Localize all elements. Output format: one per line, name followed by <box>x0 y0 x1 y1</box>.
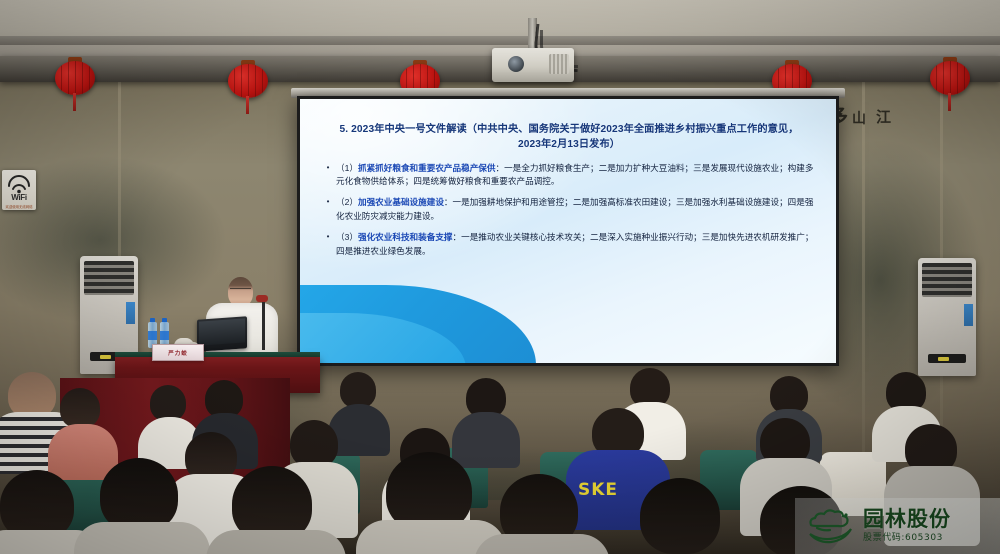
ac-vent <box>922 263 972 297</box>
bullet-marker-icon: • <box>324 162 332 190</box>
audience-head <box>290 420 338 468</box>
presenter-glasses <box>230 288 251 293</box>
shirt-text: SKE <box>578 480 618 500</box>
audience-head <box>60 388 100 428</box>
calligraphy-char-3: 江 <box>876 106 891 127</box>
bullet-text: （1）抓紧抓好粮食和重要农产品稳产保供：一是全力抓好粮食生产；二是加力扩种大豆油… <box>336 162 814 190</box>
ceiling-rail <box>0 36 1000 45</box>
bullet-text: （3）强化农业科技和装备支撑：一是推动农业关键核心技术攻关；二是深入实施种业振兴… <box>336 231 814 259</box>
bullet-marker-icon: • <box>324 231 332 259</box>
wifi-sign: WiFi 欢迎使用无线网络 <box>2 170 36 210</box>
projector-vent <box>549 54 569 74</box>
audience-head <box>340 372 376 408</box>
projector-lens <box>508 56 524 72</box>
bullet-text: （2）加强农业基础设施建设：一是加强耕地保护和用途管控；二是加强高标准农田建设；… <box>336 196 814 224</box>
audience-head <box>150 385 186 421</box>
conference-room-photo: 多 山 江 WiFi 欢迎使用无线网络 <box>0 0 1000 554</box>
audience-body <box>74 522 210 554</box>
stock-code: 股票代码:605303 <box>863 534 951 543</box>
red-lantern <box>55 55 95 113</box>
mural-panel-divider <box>862 80 865 480</box>
bullet-number: （3） <box>336 232 358 242</box>
wifi-label: WiFi <box>2 193 36 202</box>
ac-display-panel <box>928 354 966 363</box>
slide-bullet-item: • （3）强化农业科技和装备支撑：一是推动农业关键核心技术攻关；二是深入实施种业… <box>324 231 814 259</box>
nameplate-text: 严力蛟 <box>168 349 188 357</box>
red-lantern <box>228 58 268 116</box>
bullet-lead: 强化农业科技和装备支撑 <box>358 232 453 242</box>
microphone-head <box>256 295 268 302</box>
presenter-nameplate: 严力蛟 <box>152 344 204 361</box>
company-name: 园林股份 <box>863 509 951 530</box>
audience-body <box>474 534 610 554</box>
laptop-screen <box>199 318 245 345</box>
slide-title: 5. 2023年中央一号文件解读（中共中央、国务院关于做好2023年全面推进乡村… <box>324 123 814 153</box>
watermark-text-block: 园林股份 股票代码:605303 <box>863 509 951 543</box>
wifi-icon <box>2 172 36 194</box>
bullet-lead: 加强农业基础设施建设 <box>358 197 444 207</box>
bullet-number: （1） <box>336 163 358 173</box>
slide-bullet-item: • （2）加强农业基础设施建设：一是加强耕地保护和用途管控；二是加强高标准农田建… <box>324 196 814 224</box>
wifi-sublabel: 欢迎使用无线网络 <box>2 204 36 209</box>
ac-vent <box>84 261 134 295</box>
air-conditioner-right <box>918 258 976 376</box>
microphone-stand <box>262 300 265 350</box>
audience-body <box>452 412 520 468</box>
bullet-marker-icon: • <box>324 196 332 224</box>
red-lantern <box>930 55 970 113</box>
bullet-number: （2） <box>336 197 358 207</box>
company-watermark: 园林股份 股票代码:605303 <box>795 498 1000 554</box>
slide-bullet-list: • （1）抓紧抓好粮食和重要农产品稳产保供：一是全力抓好粮食生产；二是加力扩种大… <box>324 162 814 260</box>
projection-screen: 5. 2023年中央一号文件解读（中共中央、国务院关于做好2023年全面推进乡村… <box>297 96 839 366</box>
bullet-lead: 抓紧抓好粮食和重要农产品稳产保供 <box>358 163 496 173</box>
slide-bullet-item: • （1）抓紧抓好粮食和重要农产品稳产保供：一是全力抓好粮食生产；二是加力扩种大… <box>324 162 814 190</box>
slide-content: 5. 2023年中央一号文件解读（中共中央、国务院关于做好2023年全面推进乡村… <box>300 99 836 363</box>
audience-head <box>100 458 178 532</box>
slide-surface: 5. 2023年中央一号文件解读（中共中央、国务院关于做好2023年全面推进乡村… <box>300 99 836 363</box>
presenter-laptop <box>197 316 247 351</box>
ceiling-projector <box>492 48 574 82</box>
ac-sticker <box>964 304 973 326</box>
ac-sticker <box>126 302 135 324</box>
audience-head <box>640 478 720 554</box>
garden-cloud-logo-icon <box>805 506 857 546</box>
audience-body <box>206 530 346 554</box>
calligraphy-char-2: 山 <box>852 108 866 128</box>
